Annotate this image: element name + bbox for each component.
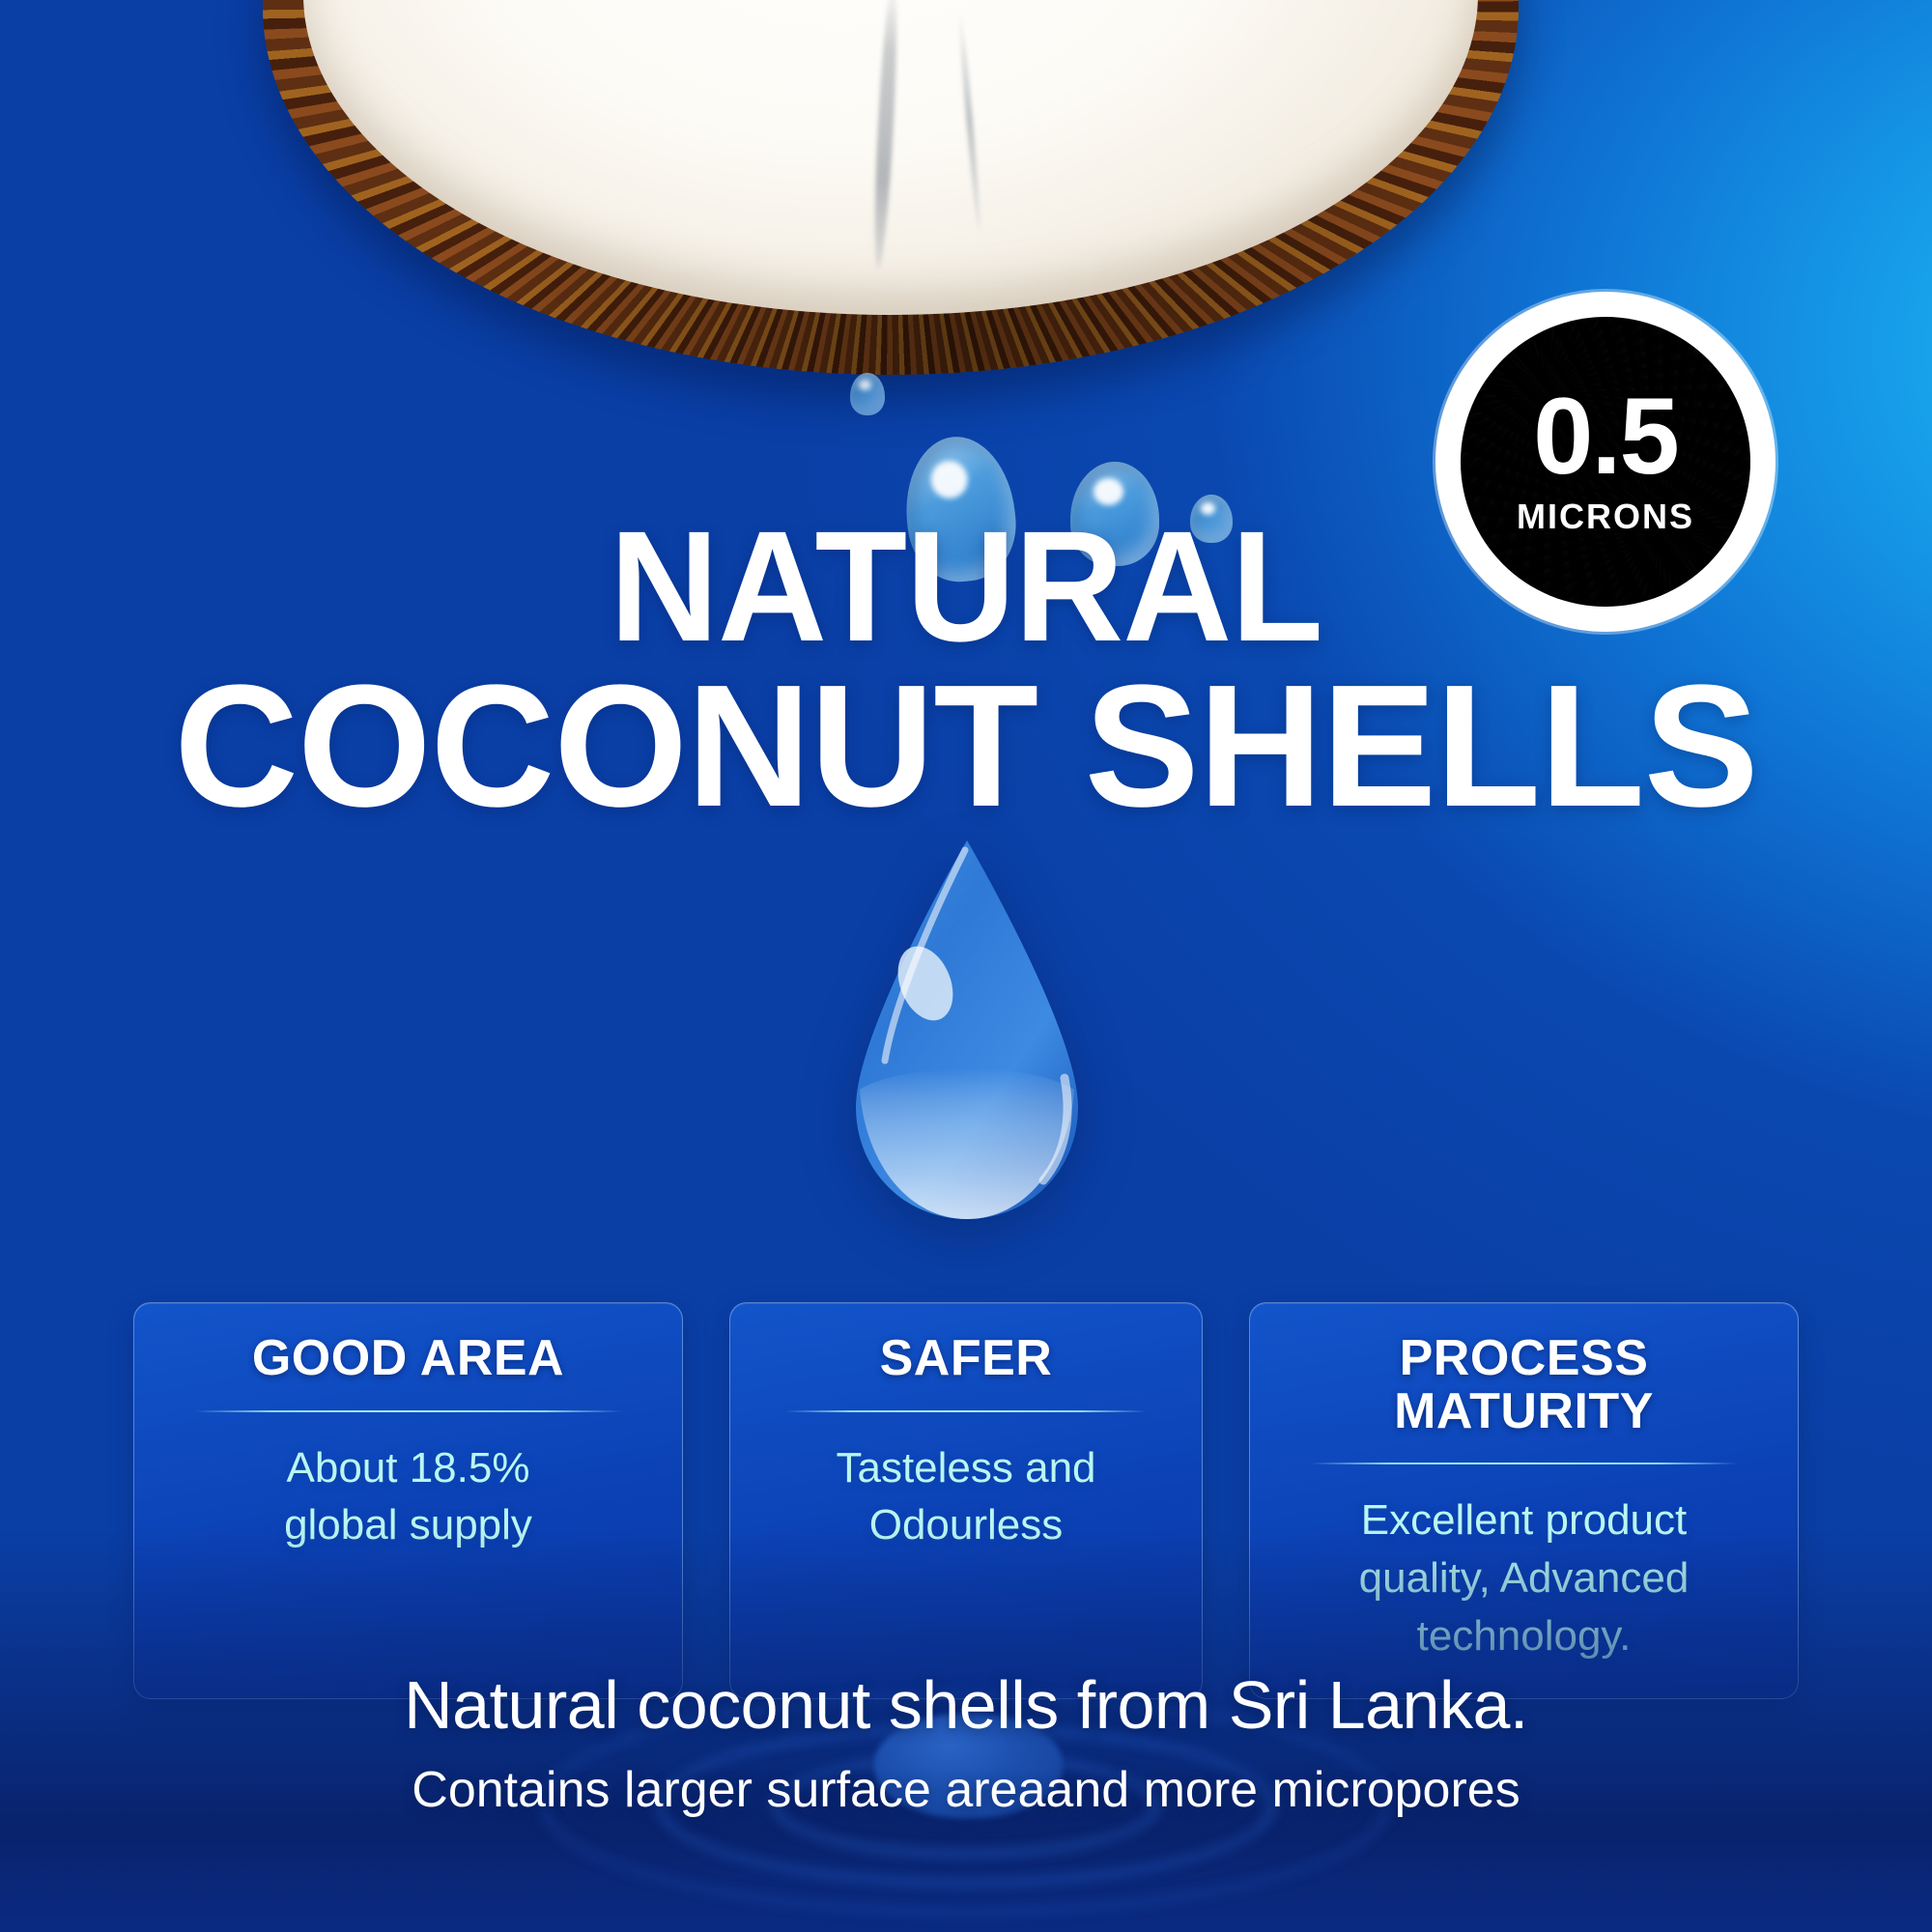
falling-water-droplets-icon bbox=[1190, 495, 1233, 543]
coconut-husk-shading bbox=[263, 0, 1519, 375]
badge-value: 0.5 bbox=[1533, 386, 1678, 486]
falling-water-droplets-icon bbox=[898, 432, 1021, 587]
water-splash-blob bbox=[874, 1714, 1063, 1818]
carbon-granule-texture: 0.5 MICRONS bbox=[1461, 317, 1750, 607]
card-title: PROCESS MATURITY bbox=[1275, 1332, 1773, 1437]
card-body-line: quality, Advanced bbox=[1359, 1549, 1690, 1607]
coconut-half-image bbox=[263, 0, 1519, 375]
card-title: GOOD AREA bbox=[252, 1332, 564, 1385]
coconut-husk bbox=[263, 0, 1519, 375]
feature-card-process-maturity[interactable]: PROCESS MATURITY Excellent product quali… bbox=[1249, 1302, 1799, 1699]
water-droplet-icon bbox=[837, 837, 1097, 1223]
headline-line-2: COCONUT SHELLS bbox=[10, 663, 1922, 832]
card-body: Excellent product quality, Advanced tech… bbox=[1359, 1492, 1690, 1664]
card-body-line: About 18.5% bbox=[284, 1439, 532, 1497]
coconut-water-trail bbox=[870, 0, 901, 269]
card-divider bbox=[1310, 1463, 1738, 1464]
card-body: About 18.5% global supply bbox=[284, 1439, 532, 1555]
falling-water-droplets-icon bbox=[1070, 462, 1159, 566]
card-divider bbox=[785, 1410, 1148, 1412]
coconut-water-trail-secondary bbox=[956, 8, 982, 230]
product-infographic-poster: 0.5 MICRONS NATURAL COCONUT SHELLS bbox=[0, 0, 1932, 1932]
card-body: Tasteless and Odourless bbox=[836, 1439, 1095, 1555]
card-body-line: technology. bbox=[1359, 1607, 1690, 1665]
feature-card-safer[interactable]: SAFER Tasteless and Odourless bbox=[729, 1302, 1203, 1699]
card-title: SAFER bbox=[880, 1332, 1053, 1385]
feature-card-row: GOOD AREA About 18.5% global supply SAFE… bbox=[133, 1302, 1799, 1699]
card-divider bbox=[194, 1410, 622, 1412]
card-body-line: Tasteless and bbox=[836, 1439, 1095, 1497]
coconut-flesh bbox=[303, 0, 1478, 315]
card-body-line: Odourless bbox=[836, 1496, 1095, 1554]
micron-badge: 0.5 MICRONS bbox=[1435, 292, 1776, 632]
card-body-line: Excellent product bbox=[1359, 1492, 1690, 1549]
feature-card-good-area[interactable]: GOOD AREA About 18.5% global supply bbox=[133, 1302, 683, 1699]
badge-unit: MICRONS bbox=[1517, 497, 1694, 537]
card-body-line: global supply bbox=[284, 1496, 532, 1554]
falling-water-droplets-icon bbox=[850, 373, 885, 415]
